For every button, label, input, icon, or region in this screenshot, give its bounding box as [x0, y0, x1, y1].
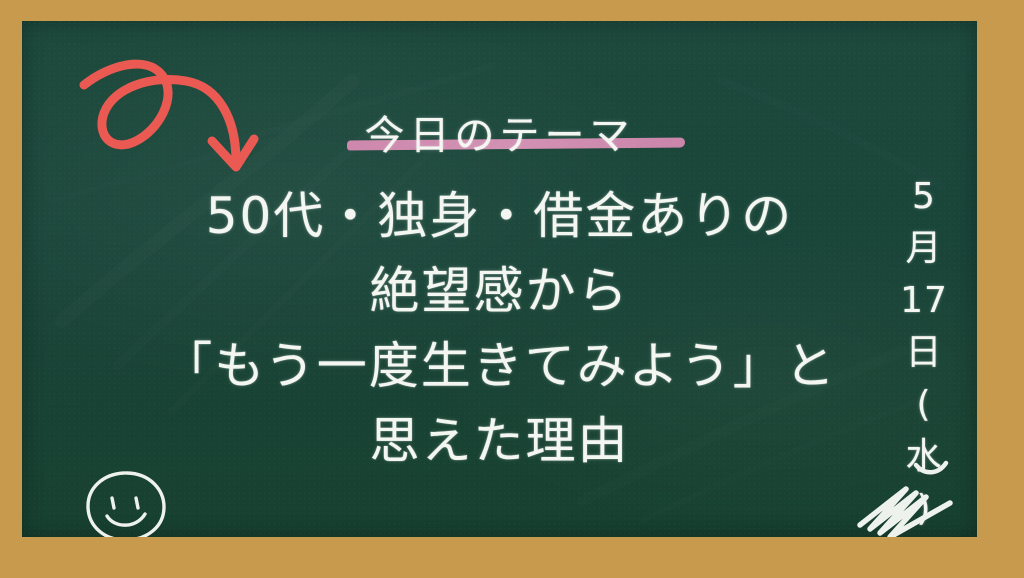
- date-char-day-num: 17: [893, 275, 955, 327]
- slide-frame: 今日のテーマ 50代・独身・借金ありの 絶望感から 「もう一度生きてみよう」と …: [0, 0, 1024, 578]
- zigzag-scribble-icon: [854, 459, 962, 537]
- date-char-month: 月: [893, 223, 955, 275]
- date-char-paren-open: (: [893, 379, 955, 431]
- date-char-day: 日: [893, 327, 955, 379]
- date-char-month-num: 5: [893, 171, 955, 223]
- headline-line-3: 「もう一度生きてみよう」と: [22, 329, 977, 404]
- headline-line-2: 絶望感から: [22, 254, 977, 329]
- headline-block: 50代・独身・借金ありの 絶望感から 「もう一度生きてみよう」と 思えた理由: [22, 179, 977, 479]
- smiley-face-icon: [80, 464, 172, 537]
- chalkboard: 今日のテーマ 50代・独身・借金ありの 絶望感から 「もう一度生きてみよう」と …: [22, 21, 977, 537]
- red-arrow-icon: [74, 43, 274, 193]
